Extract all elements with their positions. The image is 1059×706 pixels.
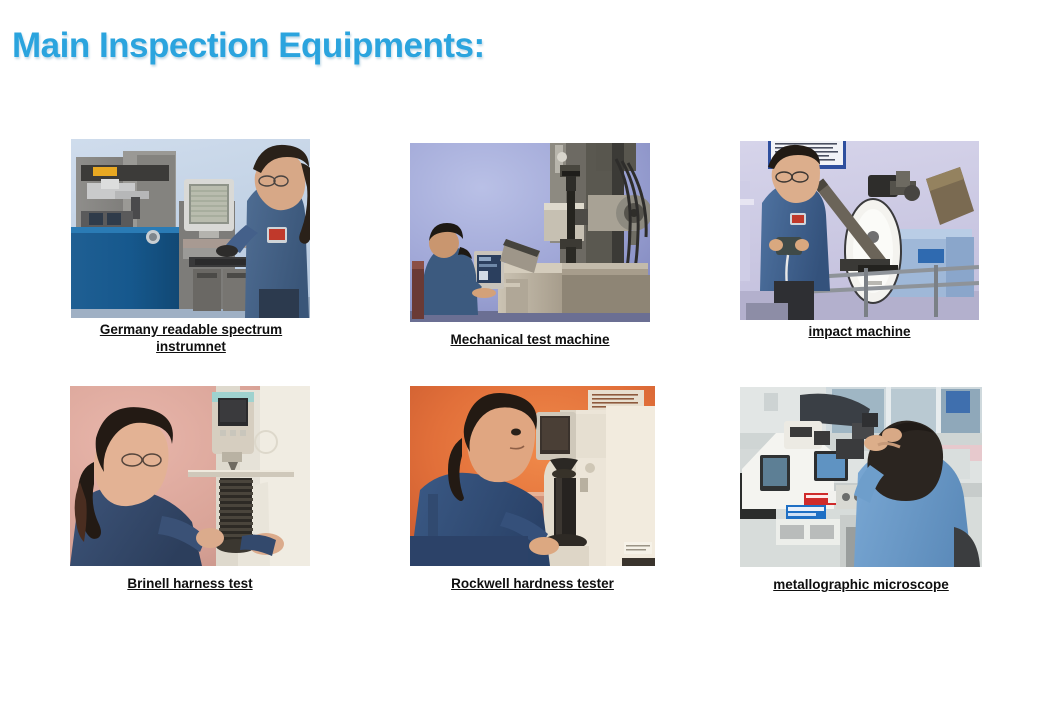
photo-germany-spectrum-instrument xyxy=(71,139,310,318)
caption-line-2: instrumnet xyxy=(156,339,226,354)
equipment-grid: Germany readable spectrum instrumnet xyxy=(0,0,1059,706)
caption-metallographic-microscope: metallographic microscope xyxy=(740,576,982,593)
photo-brinell-harness-test xyxy=(70,386,310,566)
caption-line-1: Rockwell hardness tester xyxy=(451,576,614,591)
photo-metallographic-microscope xyxy=(740,387,982,567)
caption-line-1: Mechanical test machine xyxy=(450,332,609,347)
equipment-item-rockwell-hardness-tester: Rockwell hardness tester xyxy=(410,386,655,601)
caption-rockwell-hardness-tester: Rockwell hardness tester xyxy=(410,575,655,592)
caption-mechanical-test-machine: Mechanical test machine xyxy=(410,331,650,348)
caption-brinell-harness-test: Brinell harness test xyxy=(70,575,310,592)
equipment-item-impact-machine: impact machine xyxy=(740,141,979,356)
equipment-item-germany-spectrum-instrument: Germany readable spectrum instrumnet xyxy=(71,139,310,360)
caption-line-1: Germany readable spectrum xyxy=(100,322,282,337)
caption-line-1: Brinell harness test xyxy=(127,576,252,591)
photo-impact-machine xyxy=(740,141,979,320)
equipment-item-metallographic-microscope: metallographic microscope xyxy=(740,387,982,602)
equipment-item-brinell-harness-test: Brinell harness test xyxy=(70,386,310,601)
equipment-item-mechanical-test-machine: Mechanical test machine xyxy=(410,143,650,358)
caption-line-1: metallographic microscope xyxy=(773,577,949,592)
photo-rockwell-hardness-tester xyxy=(410,386,655,566)
caption-line-1: impact machine xyxy=(808,324,910,339)
caption-impact-machine: impact machine xyxy=(740,323,979,340)
caption-germany-spectrum-instrument: Germany readable spectrum instrumnet xyxy=(67,321,315,355)
photo-mechanical-test-machine xyxy=(410,143,650,322)
